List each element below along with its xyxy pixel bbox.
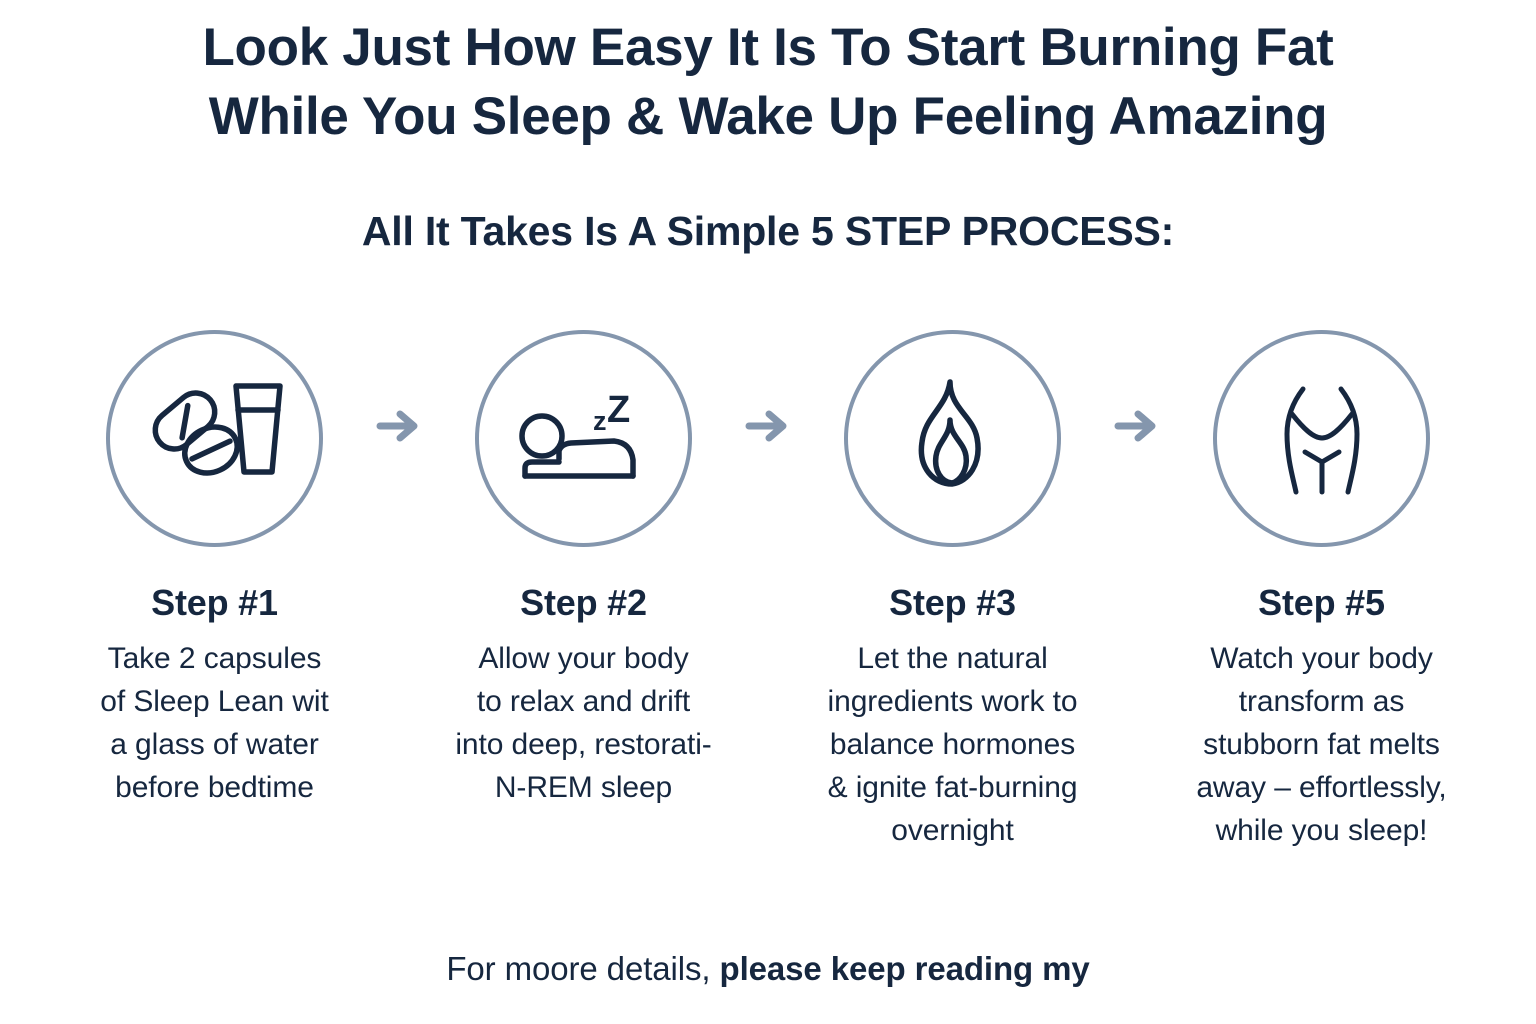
sleeping-person-zzz-icon: z Z xyxy=(509,364,659,514)
step-3-icon-circle xyxy=(844,330,1061,547)
steps-row: Step #1 Take 2 capsules of Sleep Lean wi… xyxy=(60,330,1476,853)
step-item-4: Step #5 Watch your body transform as stu… xyxy=(1167,330,1476,853)
step-item-3: Step #3 Let the natural ingredients work… xyxy=(798,330,1107,853)
step-5-icon-circle xyxy=(1213,330,1430,547)
step-5-description: Watch your body transform as stubborn fa… xyxy=(1196,637,1446,853)
footer-cta: For moore details, please keep reading m… xyxy=(0,950,1536,988)
flame-icon xyxy=(878,364,1028,514)
step-1-icon-circle xyxy=(106,330,323,547)
arrow-right-icon xyxy=(745,408,791,444)
step-3-label: Step #3 xyxy=(889,583,1016,623)
step-arrow-1 xyxy=(369,330,429,444)
page-title-line-1: Look Just How Easy It Is To Start Burnin… xyxy=(0,14,1536,83)
step-1-label: Step #1 xyxy=(151,583,278,623)
slim-body-silhouette-icon xyxy=(1247,364,1397,514)
step-2-description: Allow your body to relax and drift into … xyxy=(455,637,711,810)
step-5-label: Step #5 xyxy=(1258,583,1385,623)
step-item-1: Step #1 Take 2 capsules of Sleep Lean wi… xyxy=(60,330,369,809)
step-2-icon-circle: z Z xyxy=(475,330,692,547)
step-2-label: Step #2 xyxy=(520,583,647,623)
page-subtitle: All It Takes Is A Simple 5 STEP PROCESS: xyxy=(0,208,1536,255)
page-title: Look Just How Easy It Is To Start Burnin… xyxy=(0,14,1536,152)
infographic-page: Look Just How Easy It Is To Start Burnin… xyxy=(0,0,1536,1024)
footer-regular-text: For moore details, xyxy=(446,950,719,987)
step-1-description: Take 2 capsules of Sleep Lean wit a glas… xyxy=(100,637,328,810)
footer-bold-text: please keep reading my xyxy=(720,950,1090,987)
svg-text:Z: Z xyxy=(607,389,630,431)
svg-text:z: z xyxy=(593,406,607,436)
arrow-right-icon xyxy=(376,408,422,444)
page-title-line-2: While You Sleep & Wake Up Feeling Amazin… xyxy=(0,83,1536,152)
step-3-description: Let the natural ingredients work to bala… xyxy=(828,637,1078,853)
step-arrow-3 xyxy=(1107,330,1167,444)
step-arrow-2 xyxy=(738,330,798,444)
step-item-2: z Z Step #2 Allow your body to relax and… xyxy=(429,330,738,809)
arrow-right-icon xyxy=(1114,408,1160,444)
pills-and-water-glass-icon xyxy=(140,364,290,514)
